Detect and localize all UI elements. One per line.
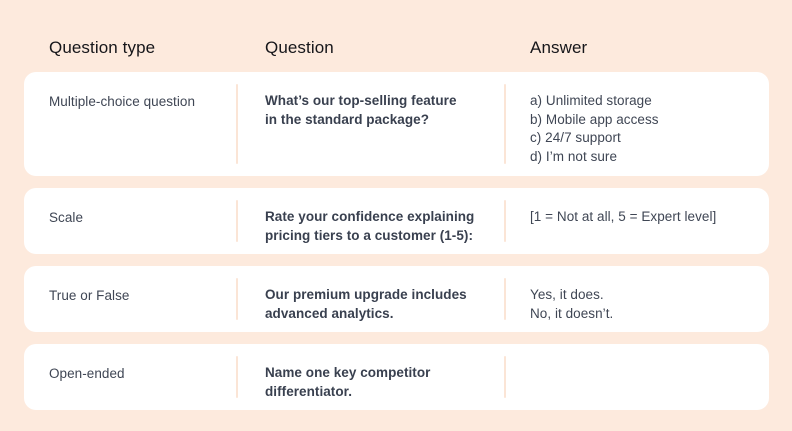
table-header: Question type Question Answer [24, 31, 769, 65]
column-header-question: Question [236, 37, 504, 59]
cell-question: What’s our top-selling feature in the st… [236, 72, 504, 176]
cell-answer [504, 344, 769, 410]
cell-answer: Yes, it does. No, it doesn’t. [504, 266, 769, 332]
cell-question: Name one key competitor differentiator. [236, 344, 504, 410]
table-body: Multiple-choice question What’s our top-… [24, 72, 769, 410]
cell-question-type: True or False [24, 266, 236, 332]
question-label: Name one key competitor differentiator. [265, 364, 430, 401]
answer-label: a) Unlimited storage b) Mobile app acces… [530, 92, 659, 166]
cell-answer: a) Unlimited storage b) Mobile app acces… [504, 72, 769, 176]
page-root: Question type Question Answer Multiple-c… [0, 0, 792, 431]
question-label: What’s our top-selling feature in the st… [265, 92, 457, 129]
cell-answer: [1 = Not at all, 5 = Expert level] [504, 188, 769, 254]
table-row: Open-ended Name one key competitor diffe… [24, 344, 769, 410]
table-row: Scale Rate your confidence explaining pr… [24, 188, 769, 254]
answer-label: Yes, it does. No, it doesn’t. [530, 286, 613, 323]
cell-question-type: Multiple-choice question [24, 72, 236, 176]
table-row: Multiple-choice question What’s our top-… [24, 72, 769, 176]
cell-question: Rate your confidence explaining pricing … [236, 188, 504, 254]
question-type-label: Open-ended [49, 364, 125, 384]
answer-label: [1 = Not at all, 5 = Expert level] [530, 208, 716, 227]
column-header-answer: Answer [504, 37, 769, 59]
question-label: Rate your confidence explaining pricing … [265, 208, 474, 245]
question-type-label: True or False [49, 286, 129, 306]
column-header-question-type: Question type [24, 37, 236, 59]
question-type-label: Multiple-choice question [49, 92, 195, 112]
cell-question-type: Open-ended [24, 344, 236, 410]
cell-question-type: Scale [24, 188, 236, 254]
question-type-label: Scale [49, 208, 83, 228]
question-label: Our premium upgrade includes advanced an… [265, 286, 467, 323]
table-row: True or False Our premium upgrade includ… [24, 266, 769, 332]
cell-question: Our premium upgrade includes advanced an… [236, 266, 504, 332]
